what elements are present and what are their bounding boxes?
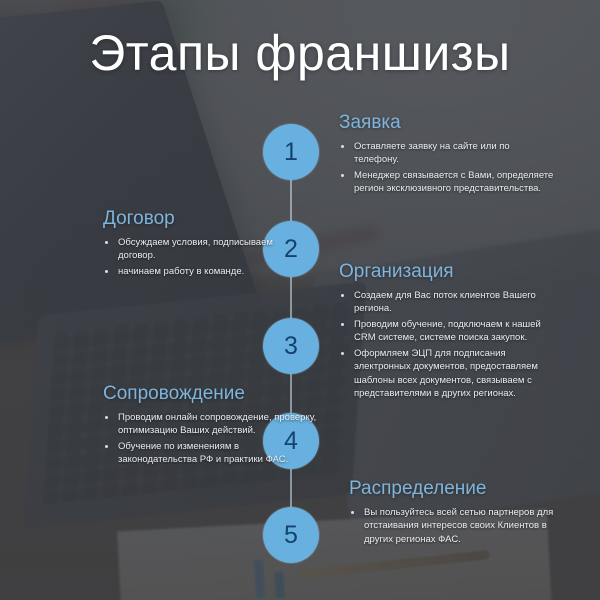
list-item: Обучение по изменениям в законодательств… (103, 440, 318, 467)
step-bullets-4: Проводим онлайн сопровождение, проверку,… (103, 411, 318, 467)
slide-content: Этапы франшизы 1 2 3 4 5 Заявка Оставляе… (0, 0, 600, 600)
step-bullets-1: Оставляете заявку на сайте или по телефо… (339, 140, 554, 196)
step-heading-4: Сопровождение (103, 383, 318, 405)
step-bullets-2: Обсуждаем условия, подписываем договор. … (103, 236, 313, 279)
list-item: Проводим обучение, подключаем к нашей CR… (339, 318, 554, 345)
step-marker-3[interactable]: 3 (263, 318, 319, 374)
list-item: Проводим онлайн сопровождение, проверку,… (103, 411, 318, 438)
list-item: Вы пользуйтесь всей сетью партнеров для … (349, 506, 554, 547)
list-item: Менеджер связывается с Вами, определяете… (339, 169, 554, 196)
list-item: Оставляете заявку на сайте или по телефо… (339, 140, 554, 167)
step-heading-1: Заявка (339, 112, 554, 134)
step-bullets-3: Создаем для Вас поток клиентов Вашего ре… (339, 289, 554, 401)
step-bullets-5: Вы пользуйтесь всей сетью партнеров для … (349, 506, 554, 547)
step-block-4: Сопровождение Проводим онлайн сопровожде… (103, 383, 318, 469)
page-title: Этапы франшизы (0, 24, 600, 82)
step-block-1: Заявка Оставляете заявку на сайте или по… (339, 112, 554, 198)
step-heading-3: Организация (339, 261, 554, 283)
step-heading-5: Распределение (349, 478, 554, 500)
slide-canvas: Этапы франшизы 1 2 3 4 5 Заявка Оставляе… (0, 0, 600, 600)
list-item: Создаем для Вас поток клиентов Вашего ре… (339, 289, 554, 316)
step-block-3: Организация Создаем для Вас поток клиент… (339, 261, 554, 403)
list-item: Оформляем ЭЦП для подписания электронных… (339, 347, 554, 401)
list-item: Обсуждаем условия, подписываем договор. (103, 236, 313, 263)
list-item: начинаем работу в команде. (103, 265, 313, 279)
step-marker-1[interactable]: 1 (263, 124, 319, 180)
step-marker-5[interactable]: 5 (263, 507, 319, 563)
step-block-2: Договор Обсуждаем условия, подписываем д… (103, 208, 313, 280)
step-heading-2: Договор (103, 208, 313, 230)
step-block-5: Распределение Вы пользуйтесь всей сетью … (349, 478, 554, 548)
